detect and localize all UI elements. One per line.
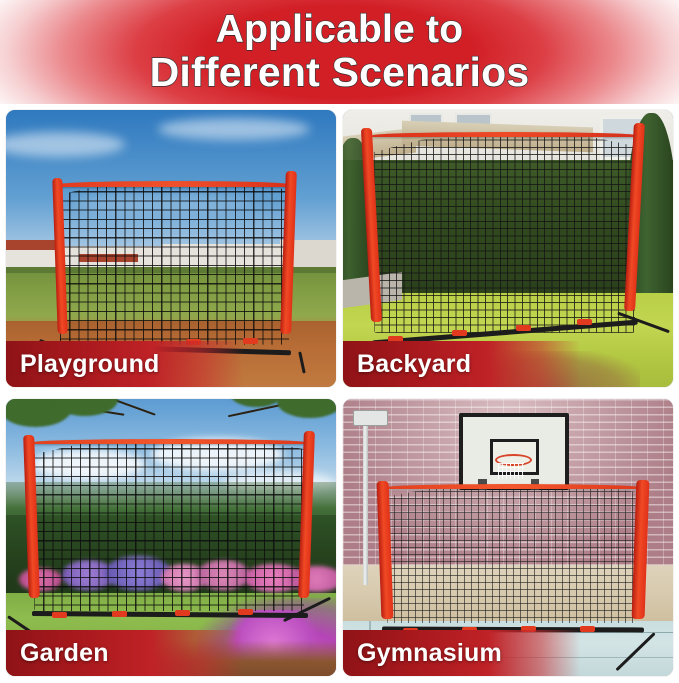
net-clip (52, 612, 67, 618)
barrier-net (26, 429, 313, 615)
scenario-grid: Playground (6, 110, 673, 680)
scenario-panel-gymnasium[interactable]: Gymnasium (343, 399, 673, 676)
net-top-rail (32, 439, 308, 444)
net-clip (516, 325, 531, 331)
scenario-panel-garden[interactable]: Garden (6, 399, 336, 676)
panel-label-backyard: Backyard (343, 341, 673, 387)
barrier-net (366, 121, 643, 337)
net-clip (112, 611, 127, 617)
scenario-panel-playground[interactable]: Playground (6, 110, 336, 387)
panel-label-garden: Garden (6, 630, 336, 676)
net-mesh (374, 132, 635, 333)
barrier-net (52, 171, 296, 348)
net-clip (577, 319, 592, 325)
panel-label-text: Backyard (357, 350, 471, 379)
panel-label-text: Playground (20, 350, 160, 379)
page-title-line-1: Applicable to (216, 11, 463, 50)
net-top-rail (372, 132, 638, 137)
page-title-line-2: Different Scenarios (150, 52, 530, 93)
panel-label-text: Gymnasium (357, 639, 502, 668)
wall-pole (363, 413, 368, 585)
barrier-net (379, 477, 646, 627)
net-mesh (60, 182, 290, 345)
scenario-panel-backyard[interactable]: Backyard (343, 110, 673, 387)
header-banner: Applicable to Different Scenarios (0, 0, 679, 104)
net-clip (238, 609, 253, 615)
net-mesh (387, 484, 638, 623)
net-clip (452, 330, 467, 336)
net-top-rail (385, 484, 642, 489)
panel-label-playground: Playground (6, 341, 336, 387)
panel-label-gymnasium: Gymnasium (343, 630, 673, 676)
net-mesh (34, 439, 304, 612)
net-top-rail (57, 181, 291, 187)
pole-bracket (353, 410, 388, 426)
net-clip (175, 610, 190, 616)
panel-label-text: Garden (20, 639, 109, 668)
infographic-page: Applicable to Different Scenarios (0, 0, 679, 683)
